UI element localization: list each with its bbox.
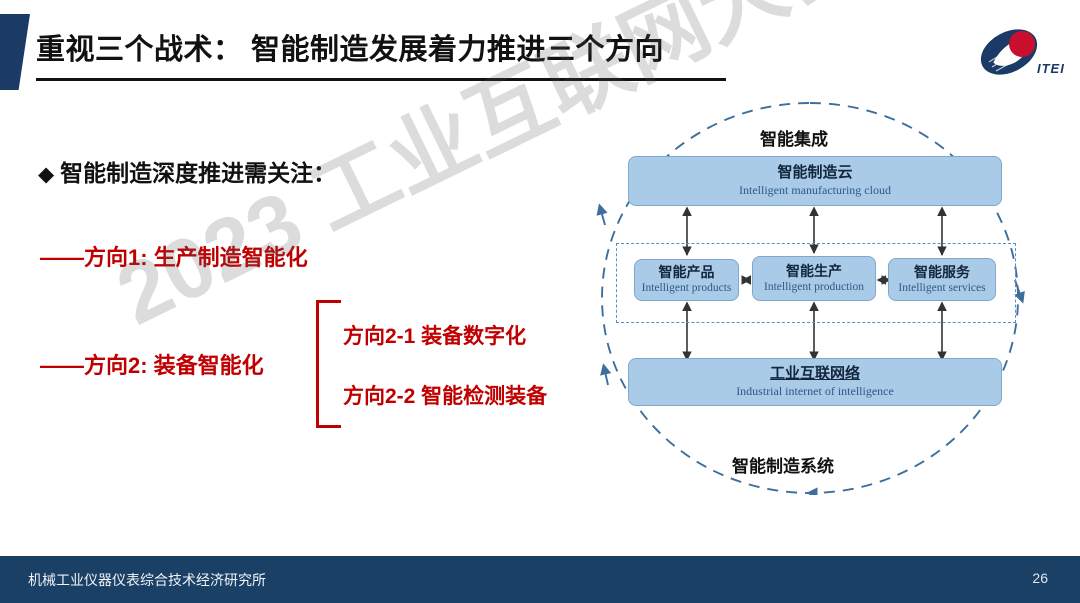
logo-swoosh-icon bbox=[975, 26, 1045, 82]
diamond-bullet-icon: ◆ bbox=[38, 163, 54, 186]
left-heading: ◆智能制造深度推进需关注： bbox=[38, 154, 336, 188]
diagram-top-label: 智能集成 bbox=[760, 125, 828, 150]
node-intelligent-products: 智能产品 Intelligent products bbox=[634, 259, 739, 301]
node-network-cn: 工业互联网络 bbox=[770, 365, 860, 382]
node-network-en: Industrial internet of intelligence bbox=[736, 384, 894, 398]
node-industrial-internet: 工业互联网络 Industrial internet of intelligen… bbox=[628, 358, 1002, 406]
diagram-bottom-label: 智能制造系统 bbox=[732, 452, 834, 477]
node-intelligent-services: 智能服务 Intelligent services bbox=[888, 258, 996, 301]
node-intelligent-manufacturing-cloud: 智能制造云 Intelligent manufacturing cloud bbox=[628, 156, 1002, 206]
node-intelligent-production: 智能生产 Intelligent production bbox=[752, 256, 876, 301]
slide-footer: 机械工业仪器仪表综合技术经济研究所 26 bbox=[0, 556, 1080, 603]
sub-item-2-1: 方向2-1 装备数字化 bbox=[343, 320, 526, 350]
page-title: 重视三个战术： 智能制造发展着力推进三个方向 bbox=[36, 26, 664, 68]
left-heading-text: 智能制造深度推进需关注： bbox=[60, 160, 336, 186]
node-products-cn: 智能产品 bbox=[659, 264, 715, 280]
node-services-en: Intelligent services bbox=[898, 282, 985, 296]
direction-2-text: ——方向2: 装备智能化 bbox=[40, 348, 264, 380]
node-services-cn: 智能服务 bbox=[914, 264, 970, 280]
title-underline-rule bbox=[36, 78, 726, 81]
slide-header: 重视三个战术： 智能制造发展着力推进三个方向 ITEI bbox=[0, 0, 1080, 100]
node-production-en: Intelligent production bbox=[764, 281, 864, 295]
node-production-cn: 智能生产 bbox=[786, 263, 842, 279]
footer-organization: 机械工业仪器仪表综合技术经济研究所 bbox=[28, 570, 266, 590]
footer-page-number: 26 bbox=[1032, 570, 1048, 586]
logo-wordmark: ITEI bbox=[1037, 61, 1065, 76]
direction-1-text: ——方向1: 生产制造智能化 bbox=[40, 240, 308, 272]
slide-root: 重视三个战术： 智能制造发展着力推进三个方向 ITEI ◆智能制造深度推进需关注… bbox=[0, 0, 1080, 603]
sub-item-2-2: 方向2-2 智能检测装备 bbox=[343, 380, 547, 410]
node-cloud-en: Intelligent manufacturing cloud bbox=[739, 183, 891, 197]
node-products-en: Intelligent products bbox=[642, 282, 732, 296]
title-accent-wedge bbox=[0, 14, 30, 90]
node-cloud-cn: 智能制造云 bbox=[777, 164, 852, 181]
red-bracket bbox=[316, 300, 341, 428]
itei-logo: ITEI bbox=[975, 26, 1067, 82]
